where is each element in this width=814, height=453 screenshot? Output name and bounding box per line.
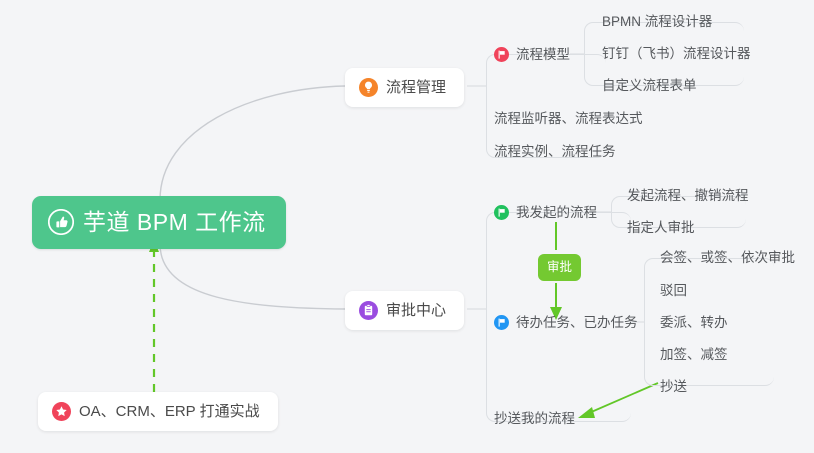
node-label-cc-to-me-processes: 抄送我的流程 <box>494 412 575 426</box>
node-bpmn-designer[interactable]: BPMN 流程设计器 <box>602 15 712 29</box>
node-label-instance-task: 流程实例、流程任务 <box>494 145 616 159</box>
node-label-listener-expression: 流程监听器、流程表达式 <box>494 112 643 126</box>
node-assignee-approval[interactable]: 指定人审批 <box>627 221 695 235</box>
node-reject[interactable]: 驳回 <box>660 284 687 298</box>
branch-label-process-management: 流程管理 <box>386 80 446 95</box>
node-label-assignee-approval: 指定人审批 <box>627 221 695 235</box>
node-cc-to-me-processes[interactable]: 抄送我的流程 <box>494 412 575 426</box>
node-label-counter-or-sequential-sign: 会签、或签、依次审批 <box>660 251 795 265</box>
footnote-node[interactable]: OA、CRM、ERP 打通实战 <box>38 392 278 431</box>
node-todo-done-tasks[interactable]: 待办任务、已办任务 <box>494 315 638 330</box>
branch-node-approval-center[interactable]: 审批中心 <box>345 291 464 330</box>
arrow-footnote-to-root <box>149 240 159 392</box>
node-listener-expression[interactable]: 流程监听器、流程表达式 <box>494 112 643 126</box>
node-process-model[interactable]: 流程模型 <box>494 47 570 62</box>
node-my-started-processes[interactable]: 我发起的流程 <box>494 205 597 220</box>
node-label-add-remove-sign: 加签、减签 <box>660 348 728 362</box>
star-icon <box>52 402 71 421</box>
approval-chip[interactable]: 审批 <box>538 254 581 281</box>
lightbulb-icon <box>359 78 378 97</box>
flag-icon <box>494 205 509 220</box>
node-custom-process-form[interactable]: 自定义流程表单 <box>602 79 697 93</box>
node-label-bpmn-designer: BPMN 流程设计器 <box>602 15 712 29</box>
node-label-carbon-copy: 抄送 <box>660 380 687 394</box>
node-label-delegate-transfer: 委派、转办 <box>660 316 728 330</box>
node-label-dingtalk-feishu-designer: 钉钉（飞书）流程设计器 <box>602 47 751 61</box>
thumbs-up-icon <box>48 209 74 235</box>
edge-root-to-approval-center <box>160 244 345 309</box>
node-label-reject: 驳回 <box>660 284 687 298</box>
edge-root-to-process-management <box>160 86 345 200</box>
node-label-todo-done-tasks: 待办任务、已办任务 <box>516 316 638 330</box>
node-add-remove-sign[interactable]: 加签、减签 <box>660 348 728 362</box>
approval-chip-label: 审批 <box>547 260 572 274</box>
node-start-cancel-process[interactable]: 发起流程、撤销流程 <box>627 189 749 203</box>
mindmap-canvas: 芋道 BPM 工作流 OA、CRM、ERP 打通实战 流程管理 <box>0 0 814 453</box>
branch-label-approval-center: 审批中心 <box>386 303 446 318</box>
clipboard-icon <box>359 301 378 320</box>
node-label-start-cancel-process: 发起流程、撤销流程 <box>627 189 749 203</box>
footnote-label: OA、CRM、ERP 打通实战 <box>79 404 260 419</box>
node-delegate-transfer[interactable]: 委派、转办 <box>660 316 728 330</box>
flag-icon <box>494 315 509 330</box>
node-label-custom-process-form: 自定义流程表单 <box>602 79 697 93</box>
root-node[interactable]: 芋道 BPM 工作流 <box>32 196 286 249</box>
flag-icon <box>494 47 509 62</box>
node-counter-or-sequential-sign[interactable]: 会签、或签、依次审批 <box>660 251 795 265</box>
node-carbon-copy[interactable]: 抄送 <box>660 380 687 394</box>
node-label-process-model: 流程模型 <box>516 48 570 62</box>
root-label: 芋道 BPM 工作流 <box>83 211 266 234</box>
node-label-my-started-processes: 我发起的流程 <box>516 206 597 220</box>
branch-node-process-management[interactable]: 流程管理 <box>345 68 464 107</box>
node-dingtalk-feishu-designer[interactable]: 钉钉（飞书）流程设计器 <box>602 47 751 61</box>
node-instance-task[interactable]: 流程实例、流程任务 <box>494 145 616 159</box>
